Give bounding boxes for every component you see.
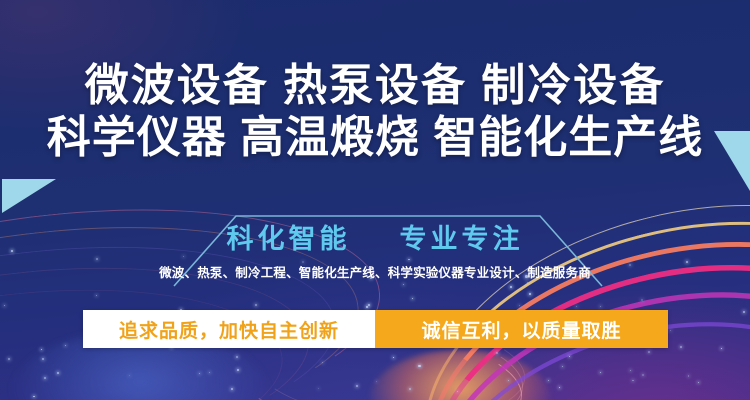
slogan-primary: 科化智能 专业专注 [0,222,750,256]
headline-line-1: 微波设备 热泵设备 制冷设备 [0,60,750,112]
slogan-subtitle: 微波、热泵、制冷工程、智能化生产线、科学实验仪器专业设计、制造服务商 [0,264,750,282]
slogan-band-left: 追求品质，加快自主创新 [83,310,375,348]
triangle-left-accent-icon [2,179,56,213]
headline-line-2: 科学仪器 高温煅烧 智能化生产线 [0,112,750,164]
slogan-primary-left: 科化智能 [226,224,350,254]
headline: 微波设备 热泵设备 制冷设备 科学仪器 高温煅烧 智能化生产线 [0,60,750,164]
warm-glow-blob [370,350,550,400]
promo-banner: 微波设备 热泵设备 制冷设备 科学仪器 高温煅烧 智能化生产线 科化智能 专业专… [0,0,750,400]
slogan-band-right: 诚信互利，以质量取胜 [375,310,668,348]
slogan-band: 追求品质，加快自主创新 诚信互利，以质量取胜 [83,310,668,348]
slogan-primary-right: 专业专注 [400,224,524,254]
